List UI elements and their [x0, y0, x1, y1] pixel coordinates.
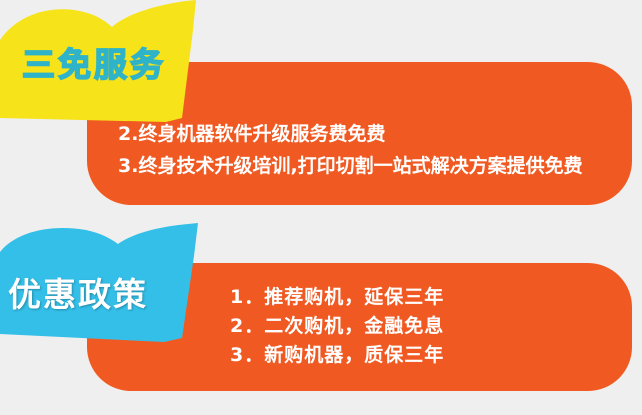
section-two-line-2: 2．二次购机，金融免息 — [230, 312, 444, 341]
section-one-title: 三免服务 — [22, 38, 166, 86]
section-two-title: 优惠政策 — [8, 268, 148, 316]
section-one-line-1: 2.终身机器软件升级服务费免费 — [118, 118, 583, 150]
section-two-line-1: 1．推荐购机，延保三年 — [230, 283, 444, 312]
section-one-line-list: 2.终身机器软件升级服务费免费 3.终身技术升级培训,打印切割一站式解决方案提供… — [118, 118, 583, 182]
section-one-line-2: 3.终身技术升级培训,打印切割一站式解决方案提供免费 — [118, 150, 583, 182]
section-two-line-list: 1．推荐购机，延保三年 2．二次购机，金融免息 3．新购机器，质保三年 — [230, 283, 444, 370]
section-two-line-3: 3．新购机器，质保三年 — [230, 341, 444, 370]
promo-poster: 三免服务 2.终身机器软件升级服务费免费 3.终身技术升级培训,打印切割一站式解… — [0, 0, 642, 415]
